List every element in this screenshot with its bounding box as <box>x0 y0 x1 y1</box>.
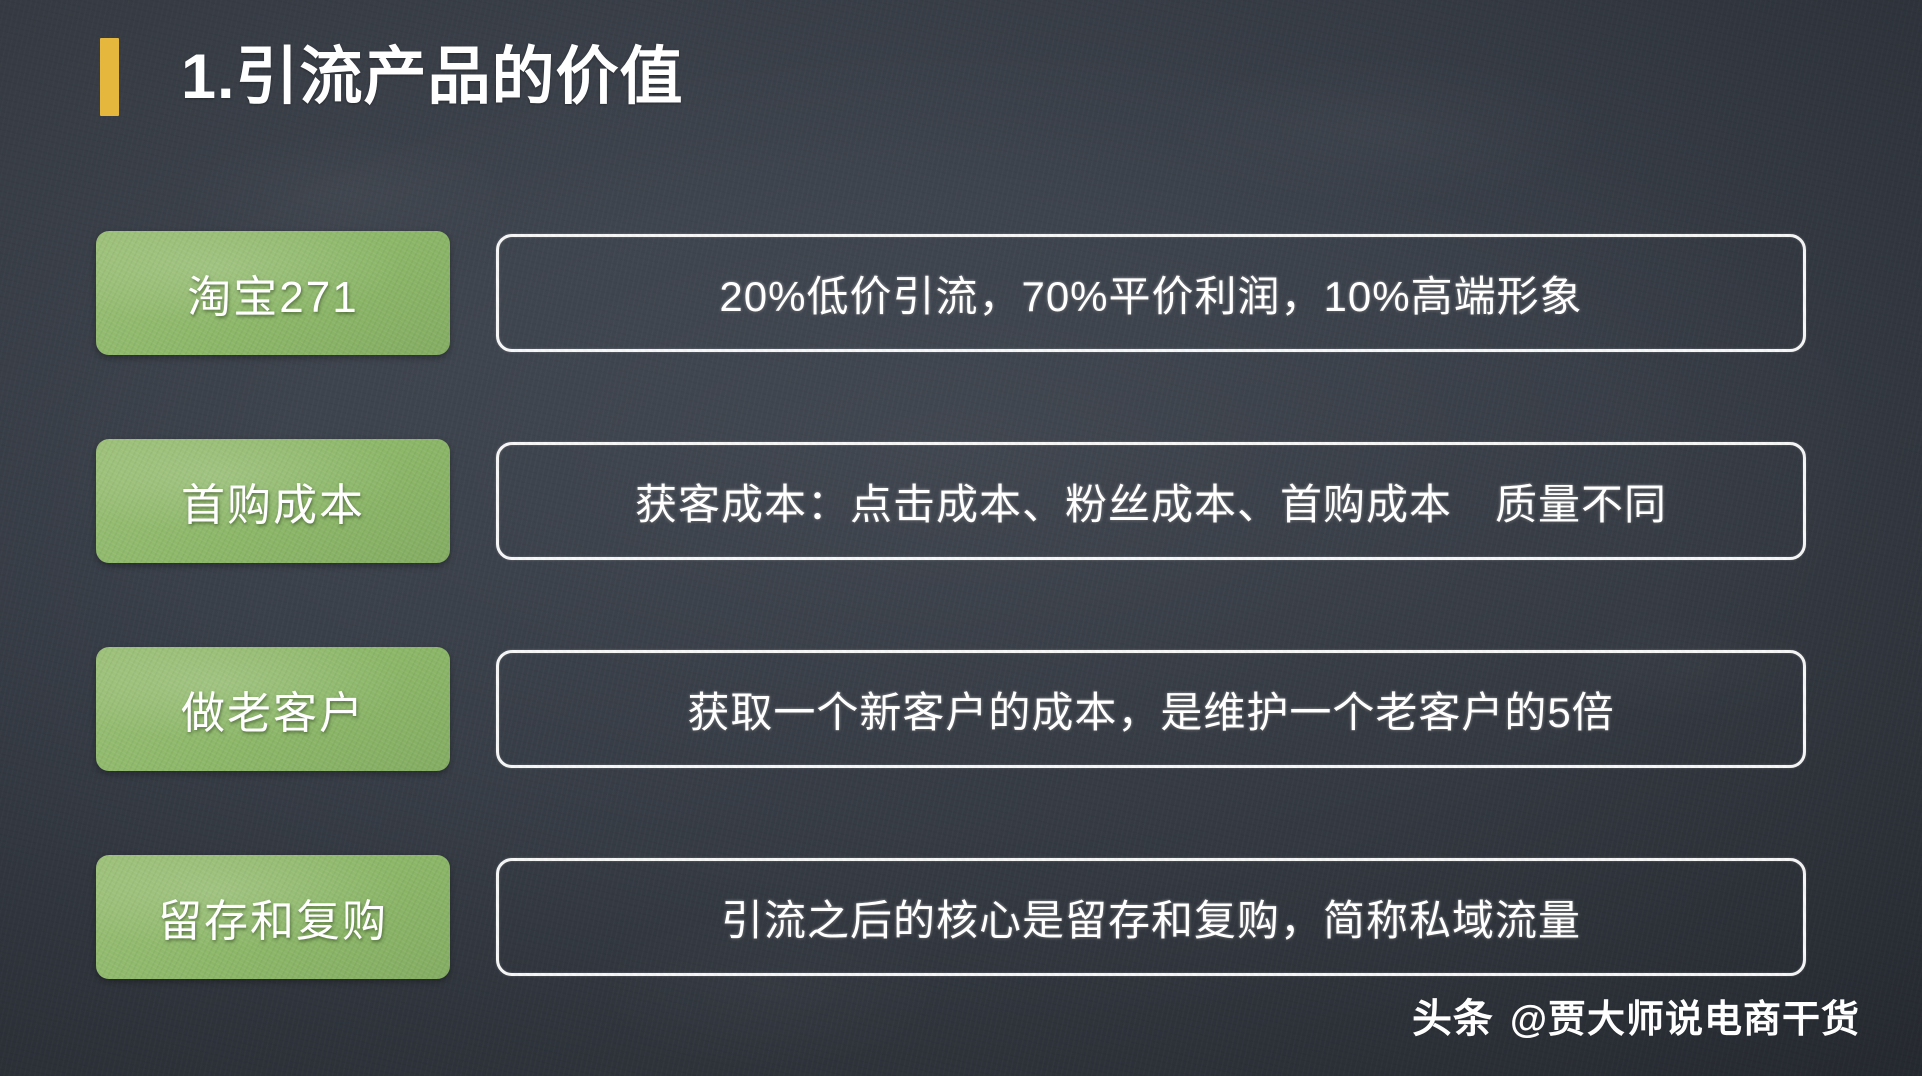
row-label-chip-taobao271: 淘宝271 <box>96 231 450 355</box>
content-row: 首购成本 获客成本：点击成本、粉丝成本、首购成本 质量不同 <box>0 436 1922 566</box>
row-label-chip-retention-repurchase: 留存和复购 <box>96 855 450 979</box>
content-row: 做老客户 获取一个新客户的成本，是维护一个老客户的5倍 <box>0 644 1922 774</box>
content-text: 获客成本：点击成本、粉丝成本、首购成本 质量不同 <box>635 471 1667 532</box>
content-text: 获取一个新客户的成本，是维护一个老客户的5倍 <box>687 679 1614 740</box>
row-content-box-returning-customers: 获取一个新客户的成本，是维护一个老客户的5倍 <box>496 650 1806 768</box>
row-content-box-taobao271: 20%低价引流，70%平价利润，10%高端形象 <box>496 234 1806 352</box>
row-content-box-retention-repurchase: 引流之后的核心是留存和复购，简称私域流量 <box>496 858 1806 976</box>
chip-label-text: 做老客户 <box>181 677 365 741</box>
title-accent-bar <box>100 38 119 116</box>
content-text: 20%低价引流，70%平价利润，10%高端形象 <box>719 263 1582 324</box>
content-row: 淘宝271 20%低价引流，70%平价利润，10%高端形象 <box>0 228 1922 358</box>
content-text: 引流之后的核心是留存和复购，简称私域流量 <box>721 887 1581 948</box>
watermark-brand: 头条 <box>1412 986 1494 1044</box>
title-text: 1.引流产品的价值 <box>181 46 684 109</box>
watermark: 头条 @贾大师说电商干货 <box>1412 986 1860 1044</box>
page-title: 1.引流产品的价值 <box>100 38 684 116</box>
chip-label-text: 淘宝271 <box>187 261 358 325</box>
content-row: 留存和复购 引流之后的核心是留存和复购，简称私域流量 <box>0 852 1922 982</box>
watermark-handle: @贾大师说电商干货 <box>1510 988 1860 1043</box>
row-label-chip-first-purchase-cost: 首购成本 <box>96 439 450 563</box>
chip-label-text: 首购成本 <box>181 469 365 533</box>
content-rows: 淘宝271 20%低价引流，70%平价利润，10%高端形象 首购成本 获客成本：… <box>0 228 1922 982</box>
chip-label-text: 留存和复购 <box>158 885 388 949</box>
slide-canvas: 1.引流产品的价值 淘宝271 20%低价引流，70%平价利润，10%高端形象 … <box>0 0 1922 1076</box>
row-label-chip-returning-customers: 做老客户 <box>96 647 450 771</box>
row-content-box-first-purchase-cost: 获客成本：点击成本、粉丝成本、首购成本 质量不同 <box>496 442 1806 560</box>
